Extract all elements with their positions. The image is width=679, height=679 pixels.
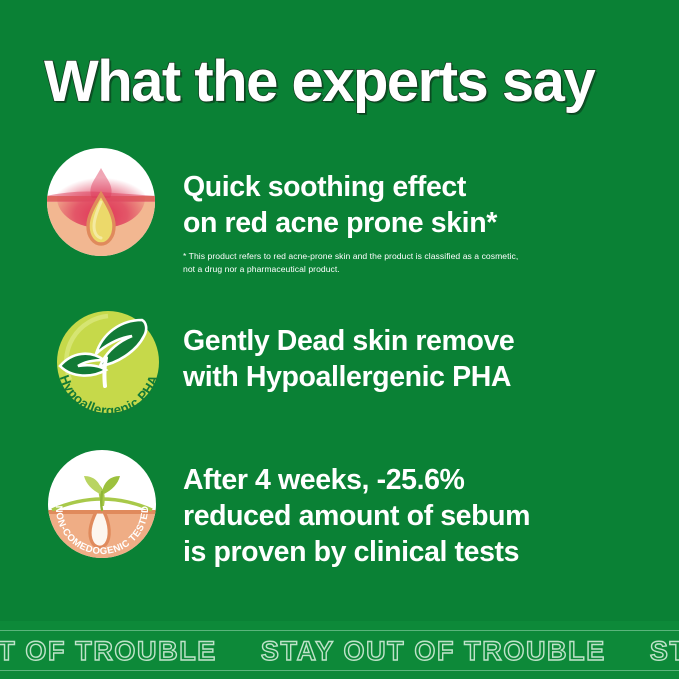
feature-headline-line: on red acne prone skin* bbox=[183, 206, 518, 242]
footer-marquee-band: STAY OUT OF TROUBLE STAY OUT OF TROUBLE … bbox=[0, 621, 679, 679]
footer-marquee-track: STAY OUT OF TROUBLE STAY OUT OF TROUBLE … bbox=[0, 634, 679, 668]
hypoallergenic-pha-leaf-badge-icon: Hypoallergenic PHA bbox=[46, 302, 172, 420]
feature-headline-line: Gently Dead skin remove bbox=[183, 324, 514, 360]
feature-headline-line: with Hypoallergenic PHA bbox=[183, 360, 514, 396]
inflamed-skin-droplet-icon bbox=[46, 146, 156, 258]
feature-footnote-line: * This product refers to red acne-prone … bbox=[183, 250, 518, 262]
feature-copy-soothing: Quick soothing effect on red acne prone … bbox=[183, 170, 518, 276]
promo-infographic: { "theme": { "background_green": "#0a813… bbox=[0, 0, 679, 679]
page-title: What the experts say bbox=[44, 52, 594, 113]
feature-headline-line: Quick soothing effect bbox=[183, 170, 518, 206]
feature-headline-line: reduced amount of sebum bbox=[183, 499, 530, 535]
footer-marquee-text: STAY OUT OF TROUBLE bbox=[650, 638, 679, 665]
feature-copy-sebum-reduction: After 4 weeks, -25.6% reduced amount of … bbox=[183, 463, 530, 571]
footer-marquee-text: STAY OUT OF TROUBLE bbox=[261, 638, 606, 665]
footer-marquee-text: STAY OUT OF TROUBLE bbox=[0, 638, 217, 665]
footer-divider-top bbox=[0, 630, 679, 631]
feature-copy-exfoliation: Gently Dead skin remove with Hypoallerge… bbox=[183, 324, 514, 396]
feature-headline-line: is proven by clinical tests bbox=[183, 535, 530, 571]
non-comedogenic-tested-pore-sprout-icon: NON-COMEDOGENIC TESTED bbox=[46, 448, 158, 562]
feature-headline-line: After 4 weeks, -25.6% bbox=[183, 463, 530, 499]
footer-divider-bottom bbox=[0, 670, 679, 671]
feature-footnote-line: not a drug nor a pharmaceutical product. bbox=[183, 263, 518, 275]
